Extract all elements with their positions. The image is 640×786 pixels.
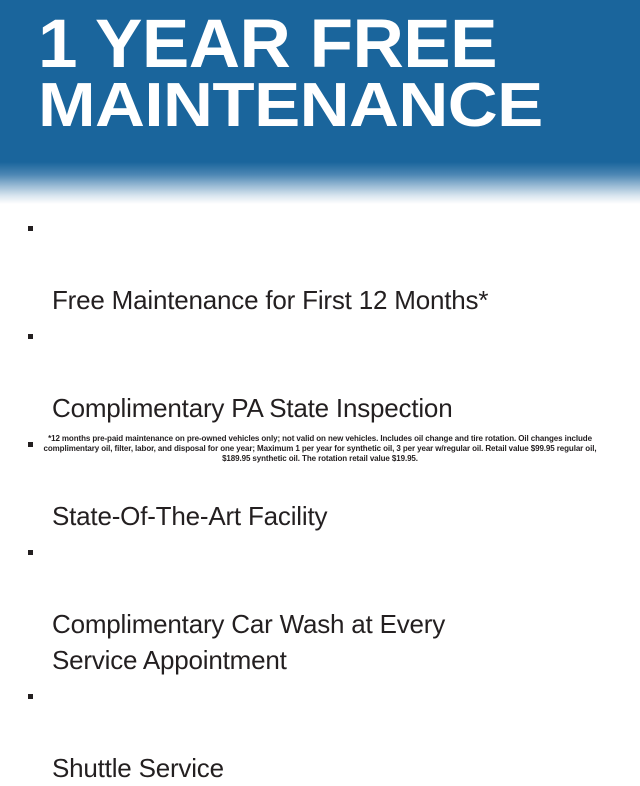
list-item: Shuttle Service [26, 678, 626, 786]
square-bullet-icon [28, 442, 33, 447]
list-item-label: Shuttle Service [52, 753, 224, 783]
list-item: Complimentary Car Wash at Every Service … [26, 534, 626, 678]
square-bullet-icon [28, 550, 33, 555]
offer-list: Free Maintenance for First 12 Months* Co… [26, 210, 626, 786]
list-item-label: State-Of-The-Art Facility [52, 501, 327, 531]
headline-line-1: 1 YEAR FREE [38, 12, 635, 75]
headline: 1 YEAR FREE MAINTENANCE [38, 12, 618, 135]
list-item-label: Complimentary PA State Inspection [52, 393, 452, 423]
list-item-label: Free Maintenance for First 12 Months* [52, 285, 488, 315]
list-item-label: Complimentary Car Wash at Every Service … [52, 609, 445, 675]
square-bullet-icon [28, 334, 33, 339]
list-item: Free Maintenance for First 12 Months* [26, 210, 626, 318]
headline-banner: 1 YEAR FREE MAINTENANCE [0, 0, 640, 162]
square-bullet-icon [28, 694, 33, 699]
list-item: Complimentary PA State Inspection [26, 318, 626, 426]
promotional-flyer: 1 YEAR FREE MAINTENANCE Free Maintenance… [0, 0, 640, 480]
banner-gradient-fade [0, 162, 640, 204]
headline-line-2: MAINTENANCE [38, 77, 640, 134]
square-bullet-icon [28, 226, 33, 231]
disclaimer-text: *12 months pre-paid maintenance on pre-o… [40, 434, 600, 464]
